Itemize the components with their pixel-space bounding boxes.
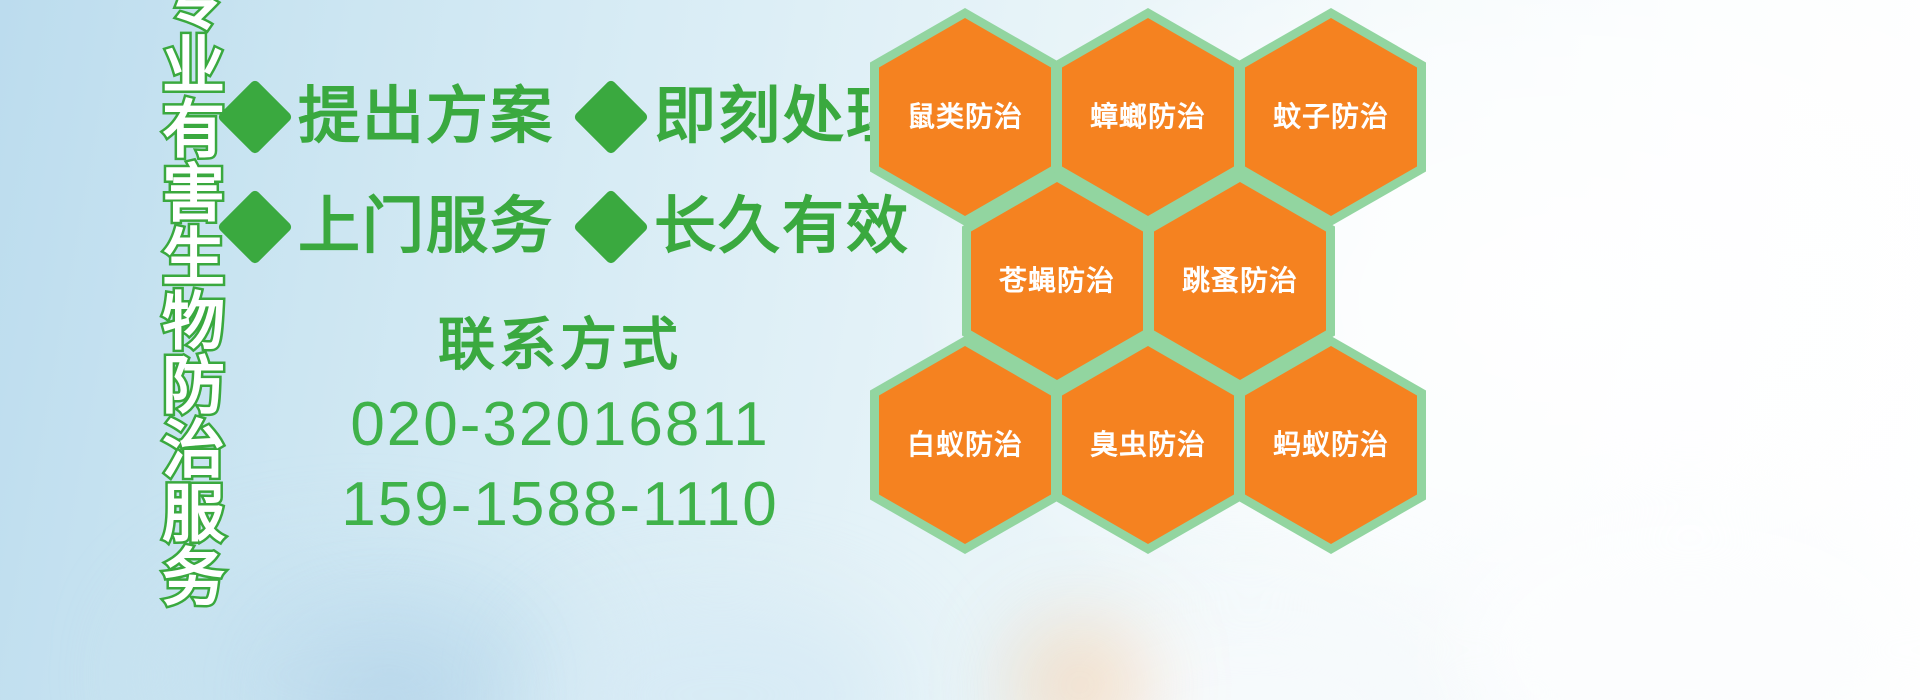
hex-cell-termite-control[interactable]: 白蚁防治 bbox=[870, 336, 1060, 554]
contact-block: 联系方式 020-32016811 159-1588-1110 bbox=[300, 312, 820, 544]
hex-label: 苍蝇防治 bbox=[999, 267, 1115, 295]
feature-item-propose-plan: 提出方案 bbox=[228, 86, 554, 148]
hex-label: 臭虫防治 bbox=[1090, 431, 1206, 459]
vertical-headline: 专业有害生物防治服务 bbox=[104, 8, 220, 568]
services-honeycomb: 鼠类防治 蟑螂防治 蚊子防治 苍蝇防治 跳蚤防治 bbox=[862, 0, 1462, 570]
diamond-icon bbox=[573, 189, 649, 265]
hex-label: 蚊子防治 bbox=[1273, 103, 1389, 131]
promo-banner: 专业有害生物防治服务 提出方案 即刻处理 上门服务 长久有效 联系方式 020-… bbox=[0, 0, 1920, 700]
background-blob bbox=[1040, 600, 1460, 700]
diamond-icon bbox=[217, 79, 293, 155]
background-blob bbox=[540, 600, 900, 700]
background-blob bbox=[1020, 630, 1140, 700]
diamond-icon bbox=[573, 79, 649, 155]
background-blob bbox=[300, 640, 480, 700]
feature-item-door-service: 上门服务 bbox=[228, 196, 554, 258]
phone-number-mobile[interactable]: 159-1588-1110 bbox=[300, 465, 820, 544]
contact-heading: 联系方式 bbox=[300, 312, 820, 379]
hex-label: 跳蚤防治 bbox=[1182, 267, 1298, 295]
hex-label: 蚂蚁防治 bbox=[1273, 431, 1389, 459]
hex-cell-ant-control[interactable]: 蚂蚁防治 bbox=[1236, 336, 1426, 554]
feature-label: 上门服务 bbox=[298, 196, 554, 258]
feature-row-bottom: 上门服务 长久有效 bbox=[228, 196, 910, 258]
hex-label: 鼠类防治 bbox=[907, 103, 1023, 131]
phone-number-landline[interactable]: 020-32016811 bbox=[300, 385, 820, 464]
background-blob bbox=[1460, 520, 1920, 700]
hex-label: 蟑螂防治 bbox=[1090, 103, 1206, 131]
hex-cell-bedbug-control[interactable]: 臭虫防治 bbox=[1053, 336, 1243, 554]
feature-row-top: 提出方案 即刻处理 bbox=[228, 86, 910, 148]
diamond-icon bbox=[217, 189, 293, 265]
hex-label: 白蚁防治 bbox=[907, 431, 1023, 459]
feature-label: 提出方案 bbox=[298, 86, 554, 148]
